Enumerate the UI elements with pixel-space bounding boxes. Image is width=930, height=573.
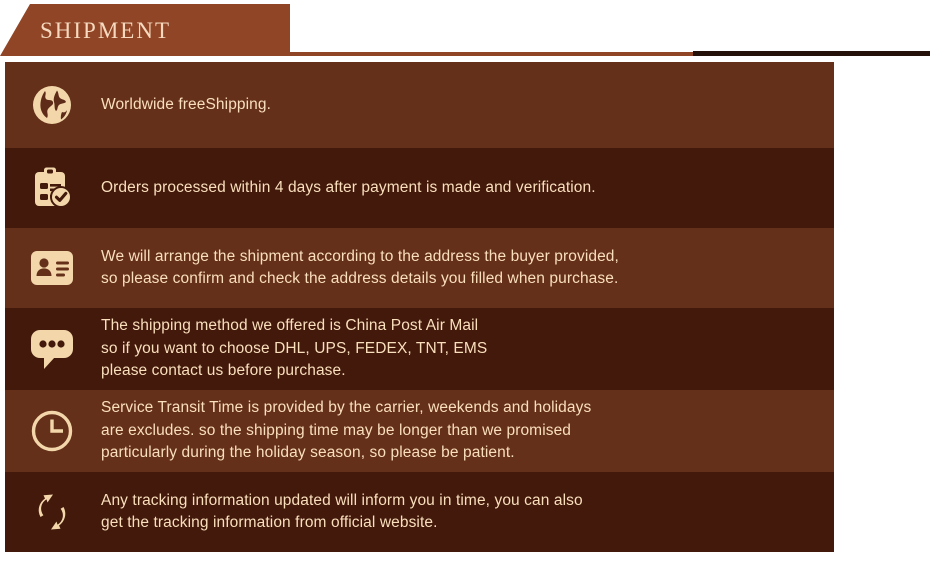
clock-icon <box>27 406 77 456</box>
info-row-order-processing: Orders processed within 4 days after pay… <box>5 148 834 228</box>
clipboard-check-icon <box>27 163 77 213</box>
speech-bubble-icon <box>27 324 77 374</box>
globe-icon <box>27 80 77 130</box>
info-row-worldwide-shipping: Worldwide freeShipping. <box>5 62 834 148</box>
shipment-info-panel: Worldwide freeShipping. Orders processed… <box>5 62 834 552</box>
info-row-text: Service Transit Time is provided by the … <box>101 397 834 464</box>
info-row-text: We will arrange the shipment according t… <box>101 246 834 291</box>
info-row-address-confirmation: We will arrange the shipment according t… <box>5 228 834 308</box>
info-row-shipping-method: The shipping method we offered is China … <box>5 308 834 390</box>
info-row-text: Any tracking information updated will in… <box>101 490 834 535</box>
info-row-text: Orders processed within 4 days after pay… <box>101 177 834 199</box>
header-banner: SHIPMENT <box>0 0 930 60</box>
header-rule <box>255 52 695 56</box>
refresh-icon <box>27 487 77 537</box>
info-row-text: The shipping method we offered is China … <box>101 315 834 382</box>
header-rule-dark <box>693 51 930 56</box>
page-title: SHIPMENT <box>40 18 171 44</box>
id-card-icon <box>27 243 77 293</box>
info-row-text: Worldwide freeShipping. <box>101 94 834 116</box>
info-row-transit-time: Service Transit Time is provided by the … <box>5 390 834 472</box>
info-row-tracking-information: Any tracking information updated will in… <box>5 472 834 552</box>
